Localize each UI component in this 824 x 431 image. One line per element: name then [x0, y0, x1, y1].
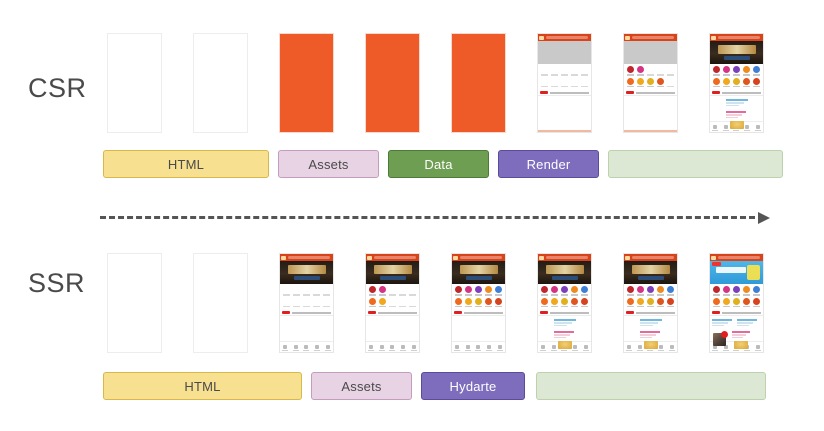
- bottom-nav-icon: [659, 345, 663, 349]
- content-card[interactable]: [554, 331, 574, 338]
- bottom-nav-item[interactable]: [411, 345, 417, 352]
- category-icon[interactable]: [646, 298, 655, 308]
- stage-bar-label: HTML: [184, 379, 220, 394]
- category-icon[interactable]: [322, 298, 331, 308]
- bottom-nav-item[interactable]: [637, 345, 643, 352]
- content-card[interactable]: [640, 319, 662, 326]
- category-icon[interactable]: [550, 298, 559, 308]
- hero-banner: [366, 261, 419, 284]
- app-logo-icon: [711, 256, 716, 260]
- bottom-nav-item[interactable]: [465, 345, 471, 352]
- card-text-line: [726, 102, 744, 104]
- promo-strip[interactable]: [624, 90, 677, 96]
- category-caption: [753, 306, 760, 308]
- category-caption: [571, 86, 578, 88]
- content-card[interactable]: [554, 319, 576, 326]
- category-icon[interactable]: [292, 286, 301, 296]
- hero-banner: [710, 261, 763, 284]
- frame-phone-partial: [365, 253, 420, 353]
- search-icon: [546, 256, 588, 259]
- promo-badge: [540, 91, 548, 94]
- bottom-nav[interactable]: [280, 341, 333, 352]
- category-caption: [475, 294, 482, 296]
- category-icon[interactable]: [742, 78, 751, 88]
- category-icon[interactable]: [626, 66, 635, 76]
- bottom-nav-icon: [573, 345, 577, 349]
- category-icon[interactable]: [322, 286, 331, 296]
- category-icon[interactable]: [408, 286, 417, 296]
- bottom-nav-icon: [584, 345, 588, 349]
- promo-strip[interactable]: [452, 310, 505, 316]
- bottom-nav[interactable]: [366, 341, 419, 352]
- category-dot-icon: [293, 286, 300, 293]
- category-caption: [667, 294, 674, 296]
- category-icon[interactable]: [302, 298, 311, 308]
- frame-strip-csr: [107, 33, 764, 133]
- bottom-nav-label: [454, 350, 460, 352]
- promo-text: [636, 92, 675, 94]
- promo-badge: [282, 311, 290, 314]
- bottom-nav-item[interactable]: [583, 345, 589, 352]
- promo-badge: [368, 311, 376, 314]
- category-caption: [571, 294, 578, 296]
- stage-bar-label: Data: [424, 157, 452, 172]
- category-icon[interactable]: [666, 298, 675, 308]
- category-icon-row: [540, 298, 589, 308]
- category-icon[interactable]: [570, 298, 579, 308]
- promo-strip[interactable]: [280, 310, 333, 316]
- bottom-nav-item[interactable]: [282, 345, 288, 352]
- category-icon[interactable]: [540, 298, 549, 308]
- category-icon[interactable]: [626, 78, 635, 88]
- bottom-nav-label: [465, 350, 471, 352]
- bottom-nav-item[interactable]: [325, 345, 331, 352]
- bottom-nav-label: [486, 350, 492, 352]
- product-thumbnail[interactable]: [558, 341, 572, 349]
- category-icon[interactable]: [560, 66, 569, 76]
- promo-strip[interactable]: [710, 310, 763, 316]
- category-icon[interactable]: [752, 286, 761, 296]
- content-card[interactable]: [737, 319, 757, 326]
- bottom-nav-icon: [390, 345, 394, 349]
- category-dot-icon: [667, 286, 674, 293]
- product-thumbnail[interactable]: [713, 333, 726, 346]
- phone-app-header: [280, 254, 333, 261]
- category-dot-icon: [667, 298, 674, 305]
- bottom-nav-label: [744, 130, 750, 132]
- category-icon[interactable]: [540, 286, 549, 296]
- category-icon[interactable]: [388, 286, 397, 296]
- bottom-nav-icon: [412, 345, 416, 349]
- category-icon[interactable]: [656, 66, 665, 76]
- product-thumbnail[interactable]: [644, 341, 658, 349]
- category-dot-icon: [283, 298, 290, 305]
- category-caption: [313, 306, 320, 308]
- category-caption: [313, 294, 320, 296]
- category-icon[interactable]: [368, 286, 377, 296]
- category-icon[interactable]: [580, 298, 589, 308]
- category-caption: [637, 86, 644, 88]
- category-icon[interactable]: [752, 78, 761, 88]
- time-arrow: [100, 212, 770, 224]
- bottom-nav-item[interactable]: [723, 125, 729, 132]
- category-dot-icon: [637, 78, 644, 85]
- bottom-nav-icon: [487, 345, 491, 349]
- category-icon[interactable]: [580, 286, 589, 296]
- category-caption: [733, 86, 740, 88]
- category-dot-icon: [541, 286, 548, 293]
- bottom-nav-icon: [498, 345, 502, 349]
- bottom-nav-placeholder: [624, 130, 677, 132]
- category-icon[interactable]: [560, 298, 569, 308]
- category-icon[interactable]: [666, 286, 675, 296]
- category-dot-icon: [713, 298, 720, 305]
- promo-text: [378, 312, 417, 314]
- category-caption: [657, 306, 664, 308]
- category-dot-icon: [733, 286, 740, 293]
- card-text-line: [554, 322, 572, 324]
- category-dot-icon: [541, 298, 548, 305]
- category-dot-icon: [323, 298, 330, 305]
- category-dot-icon: [733, 298, 740, 305]
- category-icon[interactable]: [312, 286, 321, 296]
- category-icon[interactable]: [474, 298, 483, 308]
- promo-strip[interactable]: [710, 90, 763, 96]
- phone-app-header: [452, 254, 505, 261]
- category-icon[interactable]: [454, 298, 463, 308]
- card-text-line: [712, 325, 724, 327]
- category-icon[interactable]: [722, 298, 731, 308]
- category-icon[interactable]: [560, 78, 569, 88]
- bottom-nav-item[interactable]: [400, 345, 406, 352]
- bottom-nav-item[interactable]: [379, 345, 385, 352]
- category-caption: [723, 306, 730, 308]
- bottom-nav-item[interactable]: [572, 345, 578, 352]
- category-dot-icon: [303, 286, 310, 293]
- category-caption: [753, 86, 760, 88]
- category-dot-icon: [753, 66, 760, 73]
- promo-text: [292, 312, 331, 314]
- category-icon-row: [540, 286, 589, 296]
- promo-strip[interactable]: [624, 310, 677, 316]
- category-icon-row: [282, 286, 331, 296]
- bottom-nav-icon: [304, 345, 308, 349]
- category-icon[interactable]: [398, 298, 407, 308]
- content-card[interactable]: [712, 319, 732, 326]
- category-caption: [495, 306, 502, 308]
- bottom-nav-icon: [670, 345, 674, 349]
- bottom-nav-item[interactable]: [712, 125, 718, 132]
- category-icon[interactable]: [712, 286, 721, 296]
- bottom-nav-item[interactable]: [626, 345, 632, 352]
- category-icon[interactable]: [368, 298, 377, 308]
- bottom-nav-icon: [724, 125, 728, 129]
- category-icon[interactable]: [550, 286, 559, 296]
- category-dot-icon: [323, 286, 330, 293]
- card-text-line: [726, 114, 742, 116]
- search-icon: [718, 36, 760, 39]
- bottom-nav-placeholder: [538, 130, 591, 132]
- category-icon[interactable]: [474, 286, 483, 296]
- bottom-nav-item[interactable]: [293, 345, 299, 352]
- category-dot-icon: [399, 298, 406, 305]
- category-caption: [581, 294, 588, 296]
- category-caption: [723, 294, 730, 296]
- category-icon[interactable]: [484, 298, 493, 308]
- category-icon[interactable]: [636, 298, 645, 308]
- category-icon[interactable]: [712, 78, 721, 88]
- app-logo-icon: [539, 256, 544, 260]
- category-caption: [409, 306, 416, 308]
- category-icon[interactable]: [550, 66, 559, 76]
- category-icon[interactable]: [398, 286, 407, 296]
- category-dot-icon: [561, 298, 568, 305]
- category-dot-icon: [753, 298, 760, 305]
- category-dot-icon: [571, 66, 578, 73]
- category-icon[interactable]: [464, 298, 473, 308]
- category-icon[interactable]: [388, 298, 397, 308]
- category-icon[interactable]: [722, 78, 731, 88]
- category-icon[interactable]: [712, 66, 721, 76]
- category-caption: [551, 74, 558, 76]
- bottom-nav-label: [368, 350, 374, 352]
- phone-app-header: [710, 254, 763, 261]
- category-icon[interactable]: [752, 298, 761, 308]
- category-icon-row: [712, 66, 761, 76]
- category-caption: [561, 294, 568, 296]
- category-caption: [647, 294, 654, 296]
- phone-app-header: [624, 34, 677, 41]
- content-area: [710, 317, 763, 341]
- category-icon[interactable]: [646, 66, 655, 76]
- promo-strip[interactable]: [538, 310, 591, 316]
- category-caption: [485, 294, 492, 296]
- bottom-nav-item[interactable]: [475, 345, 481, 352]
- content-card[interactable]: [640, 331, 660, 338]
- category-dot-icon: [561, 78, 568, 85]
- category-caption: [753, 74, 760, 76]
- category-dot-icon: [561, 286, 568, 293]
- card-text-line: [640, 325, 653, 327]
- bottom-nav-label: [561, 350, 567, 352]
- category-icon[interactable]: [312, 298, 321, 308]
- product-thumbnail[interactable]: [730, 121, 744, 129]
- category-icon[interactable]: [494, 298, 503, 308]
- category-dot-icon: [313, 298, 320, 305]
- category-icon[interactable]: [636, 78, 645, 88]
- phone-app-header: [624, 254, 677, 261]
- search-icon: [460, 256, 502, 259]
- category-icon-grid: [624, 64, 677, 90]
- category-icon[interactable]: [454, 286, 463, 296]
- bottom-nav-icon: [638, 345, 642, 349]
- bottom-nav-item[interactable]: [486, 345, 492, 352]
- bottom-nav-item[interactable]: [658, 345, 664, 352]
- category-caption: [627, 86, 634, 88]
- product-thumbnail[interactable]: [734, 341, 748, 349]
- category-icon[interactable]: [464, 286, 473, 296]
- content-area: [710, 97, 763, 121]
- category-icon[interactable]: [722, 286, 731, 296]
- category-icon-row: [712, 298, 761, 308]
- bottom-nav-item[interactable]: [389, 345, 395, 352]
- category-caption: [713, 74, 720, 76]
- content-card[interactable]: [732, 331, 750, 338]
- category-icon[interactable]: [494, 286, 503, 296]
- hero-banner: [280, 261, 333, 284]
- category-icon[interactable]: [570, 286, 579, 296]
- category-icon-row: [540, 78, 589, 88]
- bottom-nav-item[interactable]: [551, 345, 557, 352]
- bottom-nav-label: [712, 130, 718, 132]
- card-text-line: [554, 325, 567, 327]
- category-caption: [293, 306, 300, 308]
- category-icon-grid: [710, 284, 763, 310]
- category-icon[interactable]: [282, 286, 291, 296]
- card-text-line: [737, 319, 757, 321]
- bottom-nav-icon: [476, 345, 480, 349]
- category-caption: [743, 306, 750, 308]
- category-icon[interactable]: [732, 286, 741, 296]
- category-icon[interactable]: [742, 286, 751, 296]
- category-icon[interactable]: [732, 78, 741, 88]
- bottom-nav-item[interactable]: [669, 345, 675, 352]
- time-arrow-line: [100, 216, 755, 219]
- category-icon[interactable]: [378, 286, 387, 296]
- category-icon[interactable]: [712, 298, 721, 308]
- bottom-nav-item[interactable]: [303, 345, 309, 352]
- category-dot-icon: [551, 286, 558, 293]
- bottom-nav-label: [540, 350, 546, 352]
- card-text-line: [640, 337, 652, 339]
- promo-strip[interactable]: [538, 90, 591, 96]
- category-dot-icon: [753, 78, 760, 85]
- bottom-nav-item[interactable]: [540, 345, 546, 352]
- promo-badge: [712, 311, 720, 314]
- bottom-nav-item[interactable]: [755, 345, 761, 352]
- category-dot-icon: [379, 298, 386, 305]
- content-area: [366, 317, 419, 341]
- category-icon[interactable]: [656, 298, 665, 308]
- category-caption: [495, 294, 502, 296]
- hero-banner: [538, 261, 591, 284]
- bottom-nav-icon: [455, 345, 459, 349]
- bottom-nav-item[interactable]: [744, 125, 750, 132]
- promo-text: [722, 312, 761, 314]
- category-icon[interactable]: [626, 298, 635, 308]
- content-area: [538, 317, 591, 341]
- promo-text: [464, 312, 503, 314]
- category-dot-icon: [647, 286, 654, 293]
- category-icon-row: [626, 66, 675, 76]
- category-icon[interactable]: [282, 298, 291, 308]
- bottom-nav-label: [303, 350, 309, 352]
- category-icon[interactable]: [408, 298, 417, 308]
- promo-strip[interactable]: [366, 310, 419, 316]
- category-icon[interactable]: [540, 66, 549, 76]
- category-icon[interactable]: [550, 78, 559, 88]
- category-dot-icon: [733, 66, 740, 73]
- category-icon[interactable]: [666, 78, 675, 88]
- bottom-nav-item[interactable]: [314, 345, 320, 352]
- category-dot-icon: [713, 286, 720, 293]
- bottom-nav-item[interactable]: [454, 345, 460, 352]
- category-dot-icon: [581, 78, 588, 85]
- category-icon[interactable]: [570, 66, 579, 76]
- category-caption: [581, 86, 588, 88]
- bottom-nav-item[interactable]: [497, 345, 503, 352]
- category-icon[interactable]: [732, 298, 741, 308]
- category-icon[interactable]: [484, 286, 493, 296]
- card-text-line: [640, 331, 660, 333]
- frame-phone-hydrated: [709, 253, 764, 353]
- category-icon-row: [626, 78, 675, 88]
- category-icon[interactable]: [540, 78, 549, 88]
- category-icon[interactable]: [666, 66, 675, 76]
- category-icon[interactable]: [646, 286, 655, 296]
- bottom-nav-label: [755, 130, 761, 132]
- frame-blank: [107, 33, 162, 133]
- category-icon[interactable]: [560, 286, 569, 296]
- content-card[interactable]: [726, 99, 748, 106]
- category-caption: [283, 294, 290, 296]
- category-icon[interactable]: [570, 78, 579, 88]
- category-caption: [753, 294, 760, 296]
- category-icon[interactable]: [742, 298, 751, 308]
- category-caption: [389, 306, 396, 308]
- category-icon[interactable]: [636, 66, 645, 76]
- category-icon[interactable]: [378, 298, 387, 308]
- category-icon[interactable]: [656, 78, 665, 88]
- category-icon[interactable]: [722, 66, 731, 76]
- category-caption: [303, 294, 310, 296]
- bottom-nav[interactable]: [452, 341, 505, 352]
- frame-phone-content: [537, 253, 592, 353]
- category-dot-icon: [399, 286, 406, 293]
- category-icon[interactable]: [732, 66, 741, 76]
- content-card[interactable]: [726, 111, 746, 118]
- search-icon: [632, 36, 674, 39]
- bottom-nav-label: [293, 350, 299, 352]
- category-caption: [323, 294, 330, 296]
- bottom-nav-label: [497, 350, 503, 352]
- category-icon[interactable]: [580, 66, 589, 76]
- category-caption: [627, 74, 634, 76]
- row-label-ssr: SSR: [28, 268, 85, 299]
- category-icon[interactable]: [636, 286, 645, 296]
- category-dot-icon: [455, 286, 462, 293]
- bottom-nav-label: [325, 350, 331, 352]
- bottom-nav-item[interactable]: [755, 125, 761, 132]
- bottom-nav-item[interactable]: [368, 345, 374, 352]
- stage-bar-label: HTML: [168, 157, 204, 172]
- category-caption: [743, 74, 750, 76]
- category-caption: [541, 86, 548, 88]
- category-icon[interactable]: [752, 66, 761, 76]
- category-caption: [627, 294, 634, 296]
- category-icon[interactable]: [646, 78, 655, 88]
- category-icon[interactable]: [580, 78, 589, 88]
- category-icon[interactable]: [302, 286, 311, 296]
- card-text-line: [640, 322, 658, 324]
- category-icon[interactable]: [292, 298, 301, 308]
- stage-bar-assets: Assets: [311, 372, 412, 400]
- category-icon[interactable]: [742, 66, 751, 76]
- category-icon[interactable]: [656, 286, 665, 296]
- app-logo-icon: [539, 36, 544, 40]
- category-icon[interactable]: [626, 286, 635, 296]
- card-text-line: [732, 337, 743, 339]
